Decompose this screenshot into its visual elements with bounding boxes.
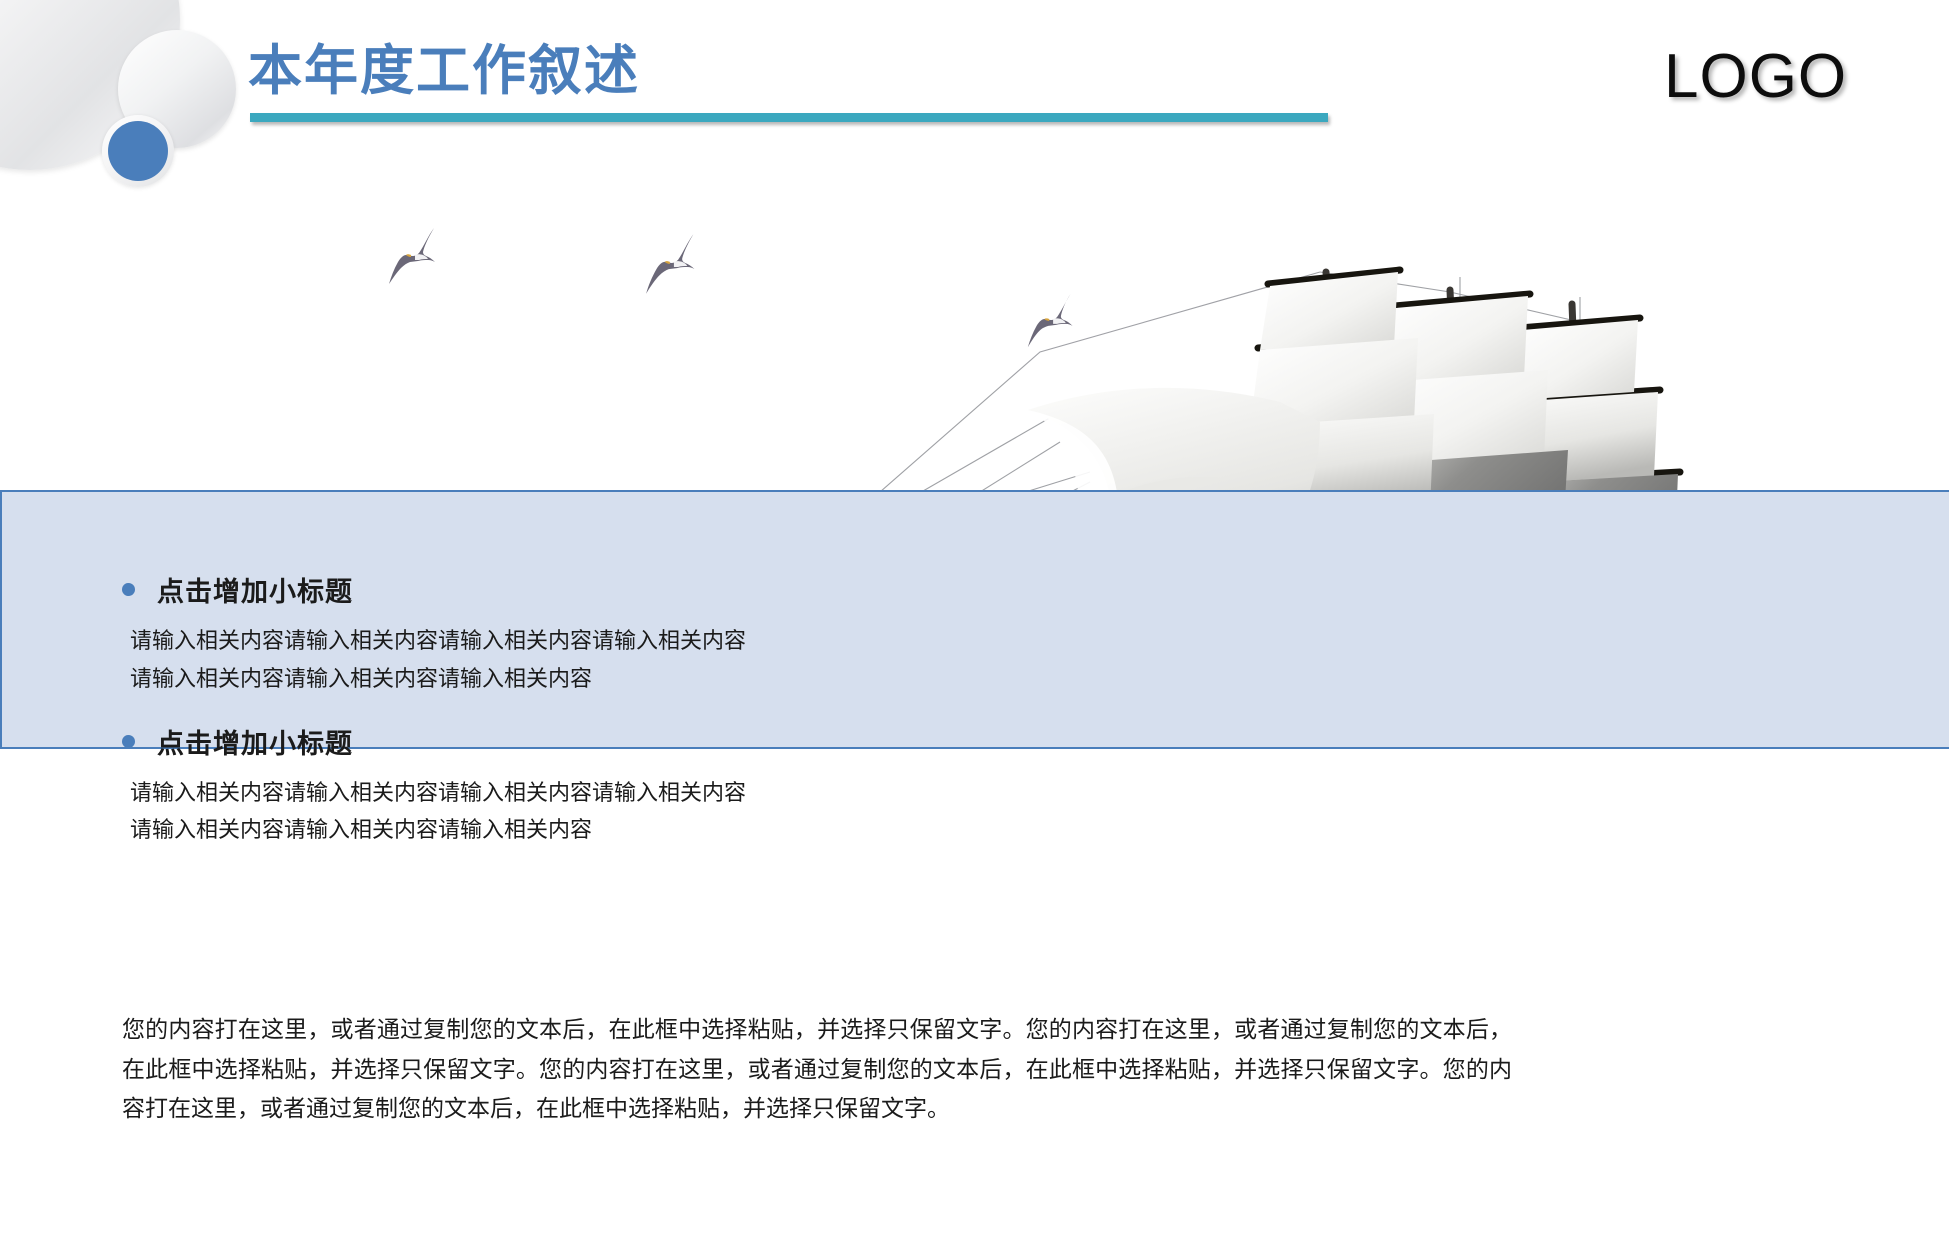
seagull-icon-3: [1022, 286, 1092, 356]
slide-header: 本年度工作叙述 LOGO: [0, 0, 1949, 160]
bullet-block-2: 点击增加小标题 请输入相关内容请输入相关内容请输入相关内容请输入相关内容 请输入…: [122, 722, 822, 850]
bullet-dot-icon: [122, 583, 135, 596]
footer-paragraph: 您的内容打在这里，或者通过复制您的文本后，在此框中选择粘贴，并选择只保留文字。您…: [122, 1010, 1512, 1129]
bullet-heading-2[interactable]: 点击增加小标题: [122, 722, 822, 761]
bullet-heading-1[interactable]: 点击增加小标题: [122, 570, 822, 609]
bullet-dot-icon: [122, 735, 135, 748]
bullet-title-2: 点击增加小标题: [157, 722, 353, 761]
bullet-title-1: 点击增加小标题: [157, 570, 353, 609]
bullet-block-1: 点击增加小标题 请输入相关内容请输入相关内容请输入相关内容请输入相关内容 请输入…: [122, 570, 822, 698]
bullet-body-line-1b: 请输入相关内容请输入相关内容请输入相关内容: [122, 660, 822, 698]
page-title: 本年度工作叙述: [248, 44, 640, 98]
bullet-body-line-2b: 请输入相关内容请输入相关内容请输入相关内容: [122, 811, 822, 849]
bullet-body-line-2a: 请输入相关内容请输入相关内容请输入相关内容请输入相关内容: [122, 774, 822, 812]
seagull-icon-1: [384, 222, 456, 294]
bullet-body-line-1a: 请输入相关内容请输入相关内容请输入相关内容请输入相关内容: [122, 622, 822, 660]
bullet-list: 点击增加小标题 请输入相关内容请输入相关内容请输入相关内容请输入相关内容 请输入…: [122, 570, 822, 873]
logo-placeholder: LOGO: [1664, 46, 1847, 108]
seagull-icon-2: [640, 228, 714, 302]
title-underline-bar: [250, 113, 1328, 122]
